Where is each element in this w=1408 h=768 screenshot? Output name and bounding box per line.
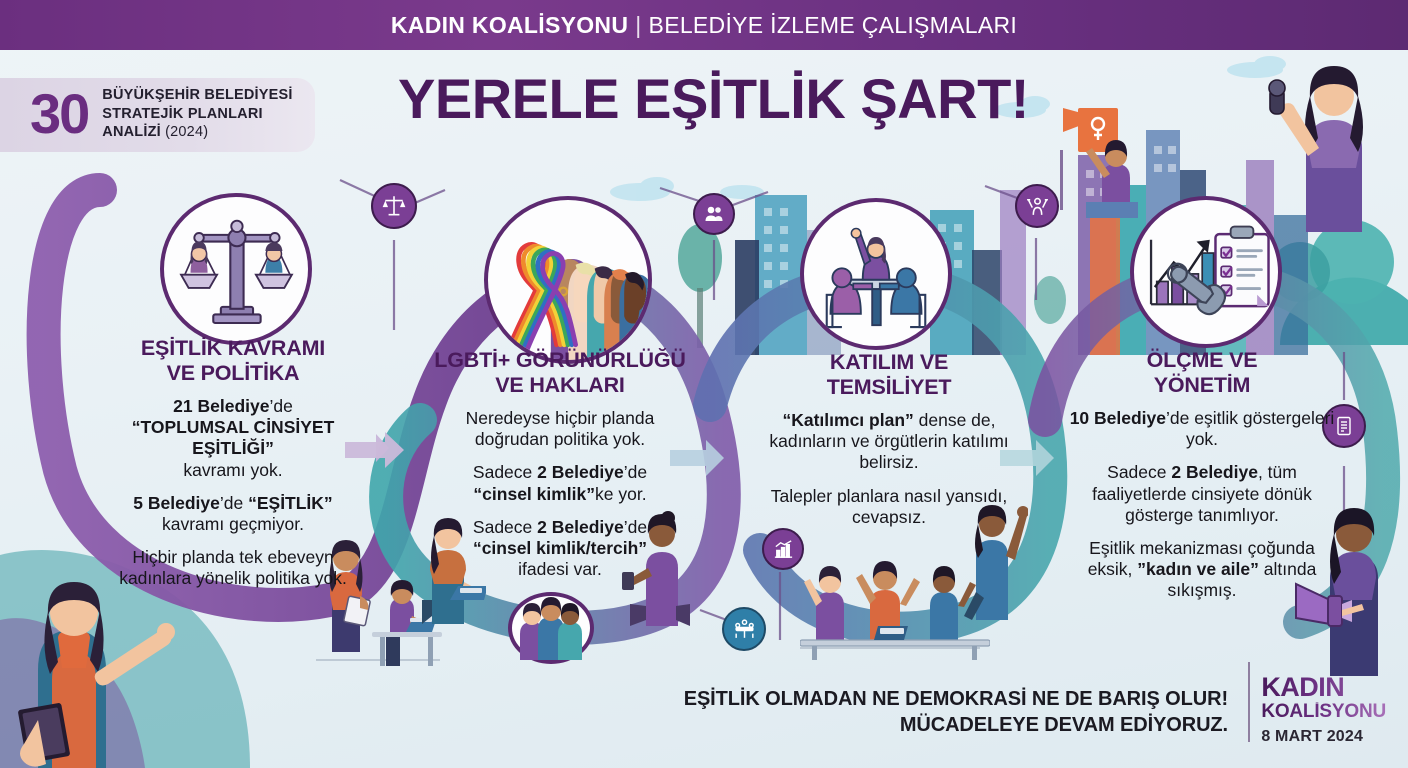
header-brand: KADIN KOALİSYONU xyxy=(391,12,628,38)
column-measurement-body: 10 Belediye’de eşitlik göstergeleri yok.… xyxy=(1068,408,1336,601)
column-participation-heading: KATILIM VE TEMSİLİYET xyxy=(758,350,1020,399)
column-measurement-heading: ÖLÇME VE YÖNETİM xyxy=(1068,348,1336,397)
rainbow-ribbon-diversity-icon xyxy=(488,200,648,360)
stat-badge-line1: BÜYÜKŞEHİR BELEDİYESİ xyxy=(102,86,292,105)
header-bar: KADIN KOALİSYONU|BELEDİYE İZLEME ÇALIŞMA… xyxy=(0,0,1408,50)
stat-badge: 30 BÜYÜKŞEHİR BELEDİYESİ STRATEJİK PLANL… xyxy=(0,78,315,152)
circle-icon-equality xyxy=(160,193,312,345)
people-badge-icon xyxy=(693,193,735,235)
meeting-badge-icon xyxy=(722,607,766,651)
column-measurement-body-paragraph: Eşitlik mekanizması çoğunda eksik, ”kadı… xyxy=(1068,538,1336,602)
circle-icon-lgbti xyxy=(484,196,652,364)
column-measurement-body-paragraph: Sadece 2 Belediye, tüm faaliyetlerde cin… xyxy=(1068,462,1336,526)
column-equality-body: 21 Belediye’de“TOPLUMSAL CİNSİYET EŞİTLİ… xyxy=(104,396,362,589)
column-equality-body-paragraph: Hiçbir planda tek ebeveyn kadınlara yöne… xyxy=(104,547,362,589)
column-lgbti-heading: LGBTİ+ GÖRÜNÜRLÜĞÜ VE HAKLARI xyxy=(432,348,688,397)
column-participation-body: “Katılımcı plan” dense de, kadınların ve… xyxy=(758,410,1020,528)
footer-divider xyxy=(1248,662,1250,742)
chart-badge-icon xyxy=(762,528,804,570)
header-subtitle: BELEDİYE İZLEME ÇALIŞMALARI xyxy=(649,12,1018,38)
footer-logo: KADIN KOALİSYONU 8 MART 2024 xyxy=(1261,674,1386,746)
raised-hands-badge-icon xyxy=(1015,184,1059,228)
stat-badge-number: 30 xyxy=(30,87,88,140)
header-title: KADIN KOALİSYONU|BELEDİYE İZLEME ÇALIŞMA… xyxy=(391,12,1017,39)
column-equality-body-paragraph: 5 Belediye’de “EŞİTLİK”kavramı geçmiyor. xyxy=(104,493,362,535)
footer-logo-line2: KOALİSYONU xyxy=(1261,702,1386,723)
stat-badge-label: BÜYÜKŞEHİR BELEDİYESİ STRATEJİK PLANLARI… xyxy=(102,86,292,142)
scales-badge-icon xyxy=(371,183,417,229)
column-participation-body-paragraph: “Katılımcı plan” dense de, kadınların ve… xyxy=(758,410,1020,474)
illustration-woman-flag-podium xyxy=(1062,108,1154,218)
stat-badge-line3: ANALİZİ (2024) xyxy=(102,123,292,142)
circle-icon-measurement xyxy=(1130,196,1282,348)
infographic-poster: KADIN KOALİSYONU|BELEDİYE İZLEME ÇALIŞMA… xyxy=(0,0,1408,768)
scales-of-justice-icon xyxy=(164,197,308,341)
stat-badge-year: (2024) xyxy=(165,124,208,140)
column-participation: KATILIM VE TEMSİLİYET “Katılımcı plan” d… xyxy=(758,350,1020,528)
column-equality-heading: EŞİTLİK KAVRAMI VE POLİTİKA xyxy=(104,336,362,385)
participation-meeting-icon xyxy=(804,202,948,346)
column-measurement-body-paragraph: 10 Belediye’de eşitlik göstergeleri yok. xyxy=(1068,408,1336,450)
column-measurement: ÖLÇME VE YÖNETİM 10 Belediye’de eşitlik … xyxy=(1068,348,1336,601)
column-lgbti-body: Neredeyse hiçbir planda doğrudan politik… xyxy=(432,408,688,580)
footer-slogan-line1: EŞİTLİK OLMADAN NE DEMOKRASİ NE DE BARIŞ… xyxy=(684,686,1228,712)
measurement-management-icon xyxy=(1134,200,1278,344)
women-group-badge-icon xyxy=(508,592,594,664)
illustration-woman-microphone xyxy=(1262,56,1398,232)
column-lgbti: LGBTİ+ GÖRÜNÜRLÜĞÜ VE HAKLARI Neredeyse … xyxy=(432,348,688,580)
column-equality-body-paragraph: 21 Belediye’de“TOPLUMSAL CİNSİYET EŞİTLİ… xyxy=(104,396,362,481)
page-title: YERELE EŞİTLİK ŞART! xyxy=(398,66,1029,131)
column-lgbti-body-paragraph: Neredeyse hiçbir planda doğrudan politik… xyxy=(432,408,688,450)
footer-slogan: EŞİTLİK OLMADAN NE DEMOKRASİ NE DE BARIŞ… xyxy=(684,686,1228,738)
circle-icon-participation xyxy=(800,198,952,350)
footer-logo-line1: KADIN xyxy=(1261,674,1386,701)
header-separator: | xyxy=(635,12,641,38)
column-participation-body-paragraph: Talepler planlara nasıl yansıdı, cevapsı… xyxy=(758,486,1020,528)
column-lgbti-body-paragraph: Sadece 2 Belediye’de“cinsel kimlik”ke yo… xyxy=(432,462,688,504)
column-equality: EŞİTLİK KAVRAMI VE POLİTİKA 21 Belediye’… xyxy=(104,336,362,589)
column-lgbti-body-paragraph: Sadece 2 Belediye’de“cinsel kimlik/terci… xyxy=(432,517,688,581)
stat-badge-line2: STRATEJİK PLANLARI xyxy=(102,105,292,124)
footer-slogan-line2: MÜCADELEYE DEVAM EDİYORUZ. xyxy=(684,712,1228,738)
footer-date: 8 MART 2024 xyxy=(1261,728,1386,746)
